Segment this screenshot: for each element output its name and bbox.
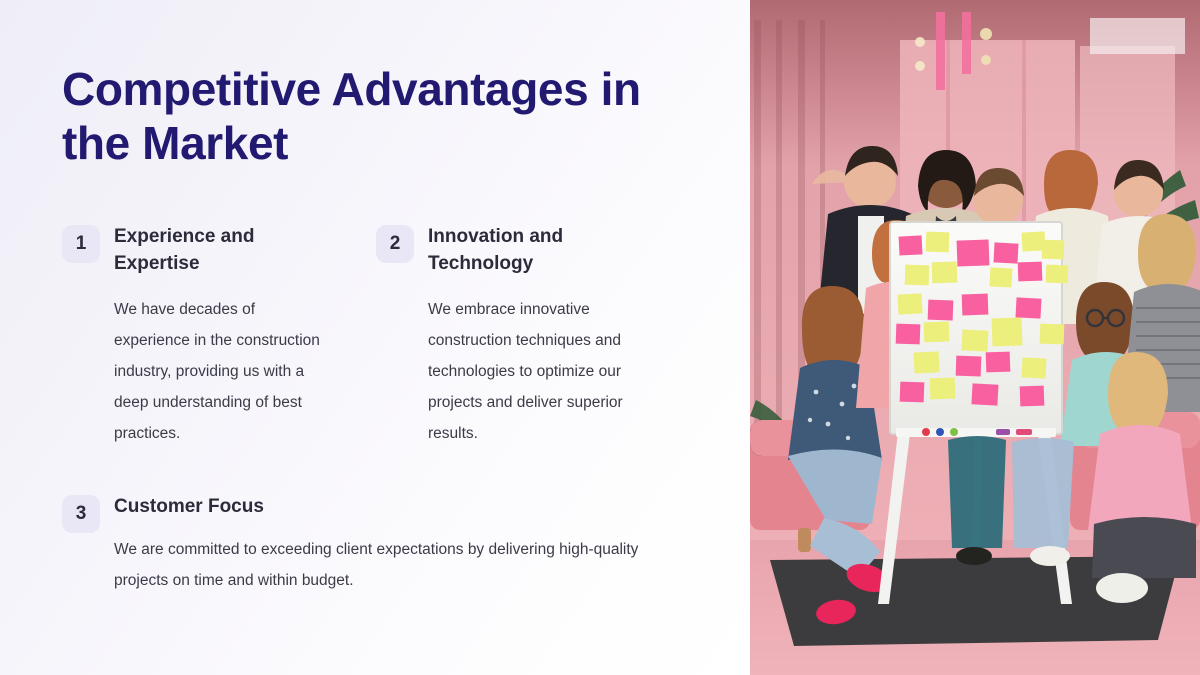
feature-number-badge: 2 — [376, 225, 414, 263]
feature-number-badge: 3 — [62, 495, 100, 533]
feature-description: We have decades of experience in the con… — [114, 294, 320, 449]
feature-item-3: 3 Customer Focus We are committed to exc… — [62, 493, 680, 597]
feature-heading: Innovation and Technology — [428, 223, 634, 278]
content-panel: Competitive Advantages in the Market 1 E… — [0, 0, 750, 675]
page-title: Competitive Advantages in the Market — [62, 62, 680, 171]
feature-list: 1 Experience and Expertise We have decad… — [62, 223, 680, 597]
feature-description: We are committed to exceeding client exp… — [114, 534, 680, 596]
feature-body: Innovation and Technology We embrace inn… — [428, 223, 634, 449]
feature-item-2: 2 Innovation and Technology We embrace i… — [376, 223, 634, 449]
feature-description: We embrace innovative construction techn… — [428, 294, 634, 449]
feature-body: Experience and Expertise We have decades… — [114, 223, 320, 449]
team-photo — [750, 0, 1200, 675]
feature-number-badge: 1 — [62, 225, 100, 263]
feature-body: Customer Focus We are committed to excee… — [114, 493, 680, 597]
feature-heading: Customer Focus — [114, 493, 680, 521]
feature-heading: Experience and Expertise — [114, 223, 320, 278]
slide: Competitive Advantages in the Market 1 E… — [0, 0, 1200, 675]
team-photo-illustration — [750, 0, 1200, 675]
feature-item-1: 1 Experience and Expertise We have decad… — [62, 223, 320, 449]
